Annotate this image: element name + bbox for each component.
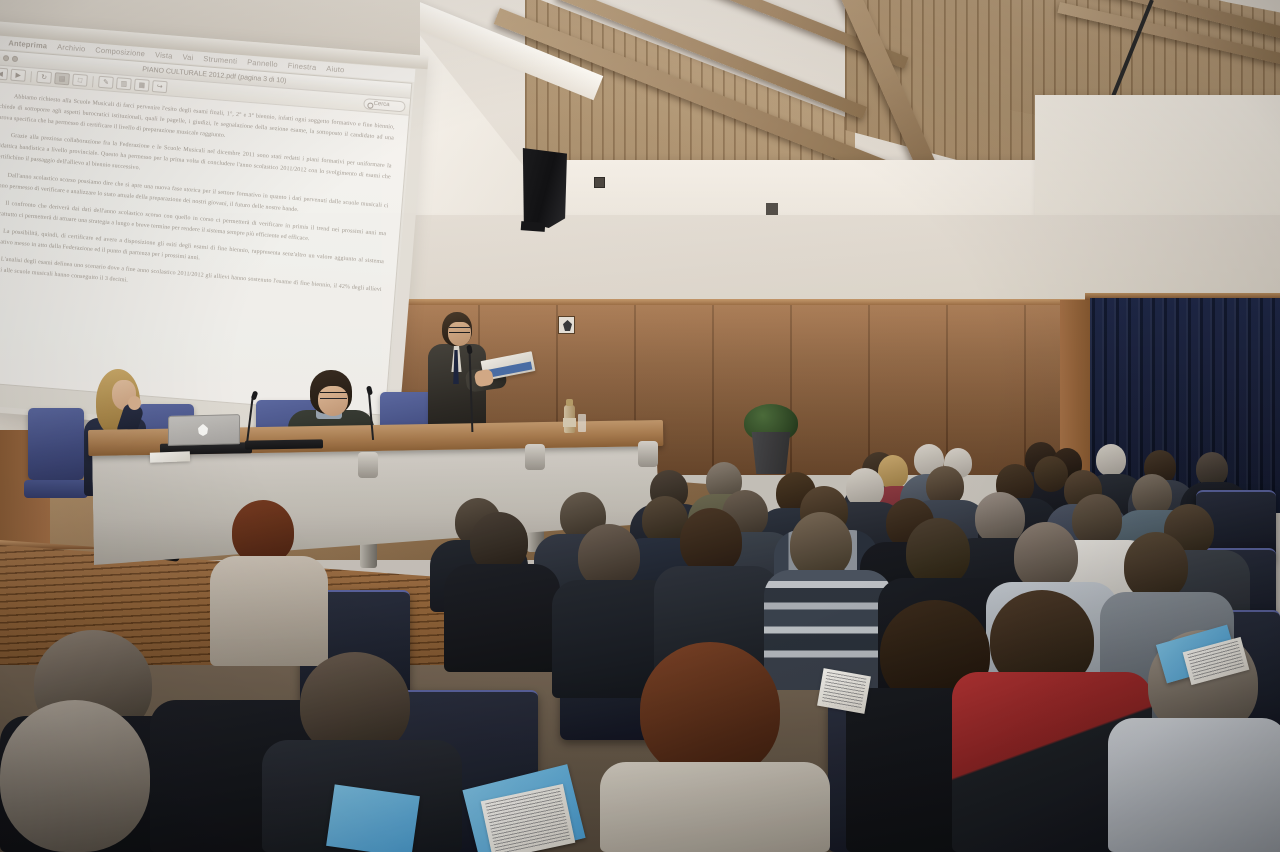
menu-item-vista[interactable]: Vista xyxy=(155,50,173,60)
seated-man-face xyxy=(318,386,348,416)
back-button[interactable]: ◀ xyxy=(0,67,8,80)
page-view-button[interactable]: □ xyxy=(72,74,88,87)
search-input[interactable]: Cerca xyxy=(363,98,406,112)
audience-head xyxy=(975,492,1025,544)
wall-vent xyxy=(594,177,605,188)
blue-stage-chair-seat[interactable] xyxy=(24,480,88,498)
menu-item-composizione[interactable]: Composizione xyxy=(95,45,145,58)
eyeglasses-icon xyxy=(320,392,347,399)
table-leg-cap xyxy=(525,444,545,470)
light-blue-folder xyxy=(326,784,420,852)
zoom-button[interactable] xyxy=(12,56,18,62)
audience-head xyxy=(1124,532,1188,600)
audience-head xyxy=(680,508,742,574)
bottle-cap xyxy=(566,399,573,406)
blue-stage-chair[interactable] xyxy=(28,408,84,480)
audience-head xyxy=(790,512,852,578)
menu-item-pannello[interactable]: Pannello xyxy=(247,58,278,69)
audience-shoulders xyxy=(444,564,560,672)
projection-screen:  Anteprima Archivio Composizione Vista … xyxy=(0,20,429,445)
contact-sheet-button[interactable]: ▦ xyxy=(134,79,150,92)
toolbar-separator xyxy=(92,76,94,87)
audience-head xyxy=(1196,452,1228,486)
printed-handout xyxy=(150,451,190,462)
audience-head xyxy=(1072,494,1122,546)
menu-item-vai[interactable]: Vai xyxy=(182,52,194,62)
forward-button[interactable]: ▶ xyxy=(10,69,26,82)
audience-head xyxy=(232,500,294,564)
audience-head xyxy=(470,512,528,572)
speaker-face xyxy=(448,322,471,346)
table-leg-cap xyxy=(638,441,658,467)
annotate-button[interactable]: ✎ xyxy=(98,76,114,89)
wall-socket xyxy=(766,203,778,215)
loudspeaker-bracket xyxy=(521,221,546,232)
menu-item-strumenti[interactable]: Strumenti xyxy=(203,54,238,66)
audience-head xyxy=(578,524,640,588)
printed-handout xyxy=(817,668,871,714)
eyeglasses-icon xyxy=(449,327,470,333)
rotate-button[interactable]: ↻ xyxy=(36,71,52,84)
handout-text-lines xyxy=(822,672,867,710)
second-laptop[interactable] xyxy=(245,439,323,449)
bottle-label xyxy=(563,418,576,427)
menu-item-finestra[interactable]: Finestra xyxy=(287,61,316,72)
menu-item-anteprima[interactable]: Anteprima xyxy=(8,38,47,50)
audience-head xyxy=(640,642,780,778)
audience-head xyxy=(0,700,150,852)
table-leg-cap xyxy=(358,452,378,478)
audience-head xyxy=(1096,444,1126,476)
toolbar-separator xyxy=(30,71,32,82)
audience-shoulders xyxy=(600,762,830,852)
drinking-glass xyxy=(578,414,586,432)
audience-head xyxy=(906,518,970,586)
handout-text-lines xyxy=(485,788,571,852)
audience-shoulders xyxy=(1108,718,1280,852)
two-page-button[interactable]: ▥ xyxy=(116,77,132,90)
loudspeaker-icon xyxy=(519,148,567,228)
preview-window: PIANO CULTURALE 2012.pdf (pagina 3 di 10… xyxy=(0,49,412,416)
audience-head xyxy=(1034,456,1068,492)
share-button[interactable]: ↪ xyxy=(152,80,168,93)
exit-sign-icon xyxy=(558,316,575,334)
seated-woman-hand xyxy=(128,396,141,410)
minimize-button[interactable] xyxy=(3,55,9,61)
conference-hall-photo:  Anteprima Archivio Composizione Vista … xyxy=(0,0,1280,852)
projected-image:  Anteprima Archivio Composizione Vista … xyxy=(0,35,415,438)
sidebar-button[interactable]: ▤ xyxy=(54,72,70,85)
audience-shoulders xyxy=(210,556,328,666)
menu-item-aiuto[interactable]: Aiuto xyxy=(326,64,345,74)
audience-head xyxy=(1014,522,1078,590)
traffic-lights[interactable] xyxy=(0,54,18,62)
pdf-page-content: Abbiamo richiesto alla Scuole Musicali d… xyxy=(0,82,409,415)
menu-item-archivio[interactable]: Archivio xyxy=(57,42,86,53)
